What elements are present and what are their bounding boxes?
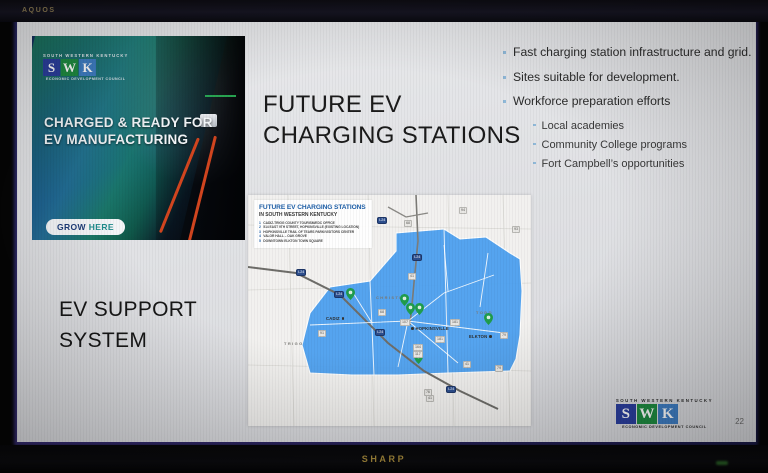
sharp-brand-label: SHARP: [0, 454, 768, 464]
route-shield: 117: [413, 351, 423, 358]
swk-footer-letters: S W K: [616, 404, 713, 424]
sub-bullet-text: Community College programs: [542, 138, 688, 152]
bullet-item: Workforce preparation efforts: [503, 94, 756, 110]
bullet-list: Fast charging station infrastructure and…: [503, 45, 756, 176]
promo-headline: CHARGED & READY FOR EV MANUFACTURING: [44, 114, 214, 148]
swk-letter-s: S: [616, 404, 636, 424]
bullet-dot-icon: [503, 100, 506, 103]
swk-letter-w: W: [61, 59, 78, 76]
bullet-text: Workforce preparation efforts: [513, 94, 670, 110]
route-shield: 94: [459, 207, 467, 214]
bullet-dot-icon: [533, 143, 536, 146]
city-name: HOPKINSVILLE: [416, 326, 449, 331]
bullet-dot-icon: [503, 76, 506, 79]
route-shield: I-24: [334, 291, 344, 298]
city-dot-icon: [411, 327, 414, 330]
route-shield: 41: [408, 273, 416, 280]
page-title: FUTURE EV CHARGING STATIONS: [263, 89, 523, 151]
charger-led-strip: [205, 95, 237, 97]
aquos-brand-label: AQUOS: [22, 7, 56, 14]
bullet-text: Sites suitable for development.: [513, 70, 680, 86]
swk-logo-top-text: SOUTH WESTERN KENTUCKY: [43, 53, 128, 58]
cta-word-here: HERE: [89, 222, 114, 232]
charging-station-pin[interactable]: [484, 313, 493, 325]
county-label-trigg: TRIGG: [284, 341, 304, 346]
swk-letter-k: K: [658, 404, 678, 424]
legend-text: DOWNTOWN ELKTON TOWN SQUARE: [263, 239, 322, 244]
sub-bullet-text: Fort Campbell’s opportunities: [542, 157, 685, 171]
slide-page-number: 22: [735, 417, 744, 426]
grow-here-button[interactable]: GROW HERE: [46, 219, 125, 235]
city-label-hopkinsville: HOPKINSVILLE: [411, 326, 449, 331]
swk-logo-bottom-text: ECONOMIC DEVELOPMENT COUNCIL: [43, 77, 128, 81]
bullet-item: Fast charging station infrastructure and…: [503, 45, 756, 61]
route-shield: I-24: [446, 386, 456, 393]
city-name: ELKTON: [469, 334, 487, 339]
swk-letter-k: K: [79, 59, 96, 76]
bullet-text: Fast charging station infrastructure and…: [513, 45, 751, 61]
sub-bullet-text: Local academies: [542, 119, 625, 133]
swk-letter-s: S: [43, 59, 60, 76]
route-shield: 68: [404, 220, 412, 227]
charging-station-pin[interactable]: [346, 288, 355, 300]
route-shield: 181: [450, 319, 460, 326]
legend-number: 5: [259, 239, 261, 244]
route-shield: 79: [500, 332, 508, 339]
city-dot-icon: [342, 317, 345, 320]
route-shield: 79: [495, 365, 503, 372]
legend-item: 5 DOWNTOWN ELKTON TOWN SQUARE: [259, 239, 367, 244]
bullet-dot-icon: [533, 124, 536, 127]
monitor-bezel-top: [0, 0, 768, 22]
map-legend: FUTURE EV CHARGING STATIONS IN SOUTH WES…: [254, 200, 372, 248]
route-shield: 41: [463, 361, 471, 368]
bullet-dot-icon: [503, 51, 506, 54]
promo-image: SOUTH WESTERN KENTUCKY S W K ECONOMIC DE…: [32, 36, 245, 240]
swk-footer-top-text: SOUTH WESTERN KENTUCKY: [616, 398, 713, 403]
television-screen: SOUTH WESTERN KENTUCKY S W K ECONOMIC DE…: [0, 0, 768, 473]
route-shield: I-24: [412, 254, 422, 261]
route-shield: I-24: [296, 269, 306, 276]
city-name: CADIZ: [326, 316, 340, 321]
presentation-slide: SOUTH WESTERN KENTUCKY S W K ECONOMIC DE…: [17, 19, 756, 442]
bullet-dot-icon: [533, 162, 536, 165]
sub-bullet-item: Local academies: [533, 119, 756, 133]
legend-subtitle: IN SOUTH WESTERN KENTUCKY: [259, 212, 367, 218]
route-shield: 93: [512, 226, 520, 233]
route-shield: I-24: [375, 329, 385, 336]
swk-logo-footer: SOUTH WESTERN KENTUCKY S W K ECONOMIC DE…: [616, 398, 713, 429]
ev-support-system-heading: EV SUPPORT SYSTEM: [59, 294, 269, 356]
route-shield: I-24: [377, 217, 387, 224]
route-shield: 164: [413, 344, 423, 351]
city-label-cadiz: CADIZ: [326, 316, 344, 321]
route-shield: 181: [435, 336, 445, 343]
sub-bullet-item: Fort Campbell’s opportunities: [533, 157, 756, 171]
city-label-elkton: ELKTON: [469, 334, 492, 339]
route-shield: 41: [426, 395, 434, 402]
legend-title: FUTURE EV CHARGING STATIONS: [259, 204, 367, 212]
charging-station-pin[interactable]: [406, 303, 415, 315]
swk-logo-promo: SOUTH WESTERN KENTUCKY S W K ECONOMIC DE…: [43, 53, 128, 81]
charging-station-pin[interactable]: [415, 303, 424, 315]
sub-bullet-item: Community College programs: [533, 138, 756, 152]
route-shield: 68: [378, 309, 386, 316]
route-shield: 91: [318, 330, 326, 337]
route-shield: 107: [400, 319, 410, 326]
route-shield: 76: [424, 389, 432, 396]
swk-letter-w: W: [637, 404, 657, 424]
city-dot-icon: [489, 335, 492, 338]
power-indicator-led: [716, 461, 728, 465]
ev-charging-stations-map: TRIGG CHRISTIAN TODD CADIZ HOPKINSVILLE …: [248, 195, 531, 426]
swk-logo-letters: S W K: [43, 59, 128, 76]
cta-word-grow: GROW: [57, 222, 86, 232]
bullet-item: Sites suitable for development.: [503, 70, 756, 86]
swk-footer-bottom-text: ECONOMIC DEVELOPMENT COUNCIL: [616, 425, 713, 429]
